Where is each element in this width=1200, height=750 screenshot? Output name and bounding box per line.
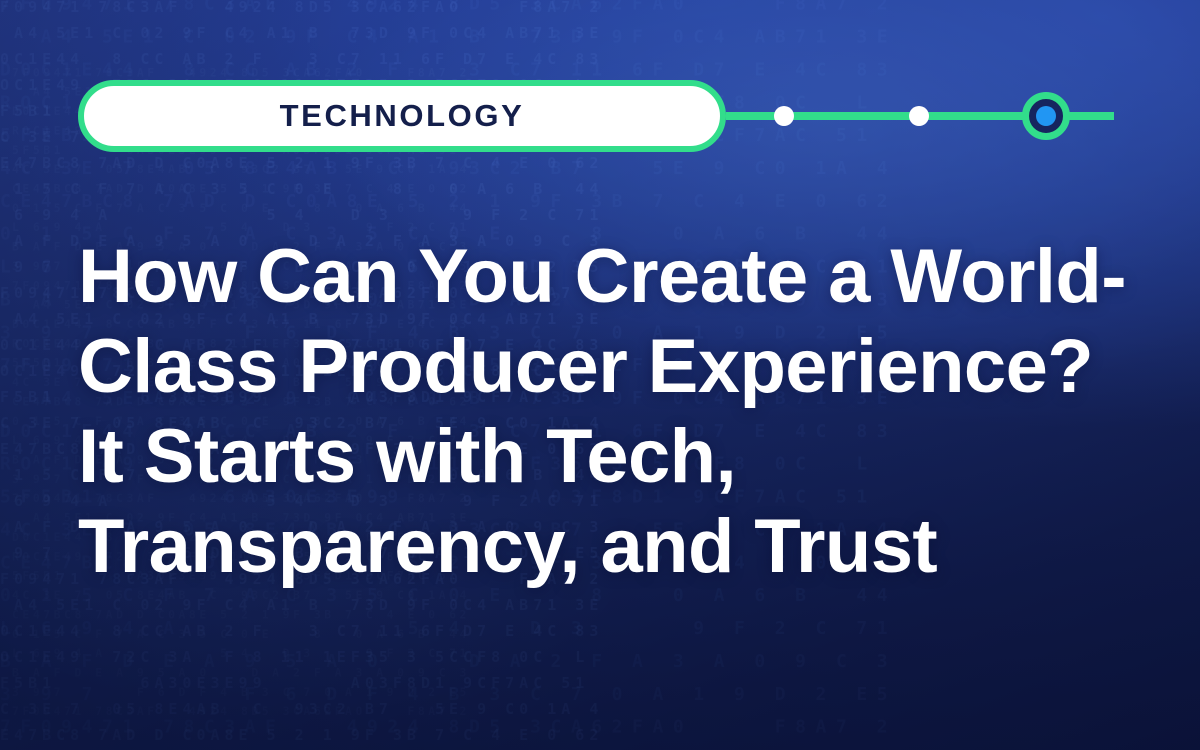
- page-title-line-2: Class Producer Experience?: [78, 322, 1158, 412]
- connector-endpoint-core: [1036, 106, 1056, 126]
- page-title-line-1: How Can You Create a World-: [78, 232, 1158, 322]
- category-badge-label: TECHNOLOGY: [280, 98, 525, 134]
- connector-node-dot-2: [909, 106, 929, 126]
- page-title-line-3: It Starts with Tech,: [78, 412, 1158, 502]
- article-hero-banner: 7F09471 78C3AF 4924 8D5 3CA62FA0 F8A7 2 …: [0, 0, 1200, 750]
- category-badge-row: TECHNOLOGY: [78, 80, 726, 152]
- page-title: How Can You Create a World- Class Produc…: [78, 232, 1158, 592]
- category-badge[interactable]: TECHNOLOGY: [78, 80, 726, 152]
- connector-endpoint-ring-icon: [1022, 92, 1070, 140]
- connector-node-dot-1: [774, 106, 794, 126]
- page-title-line-4: Transparency, and Trust: [78, 502, 1158, 592]
